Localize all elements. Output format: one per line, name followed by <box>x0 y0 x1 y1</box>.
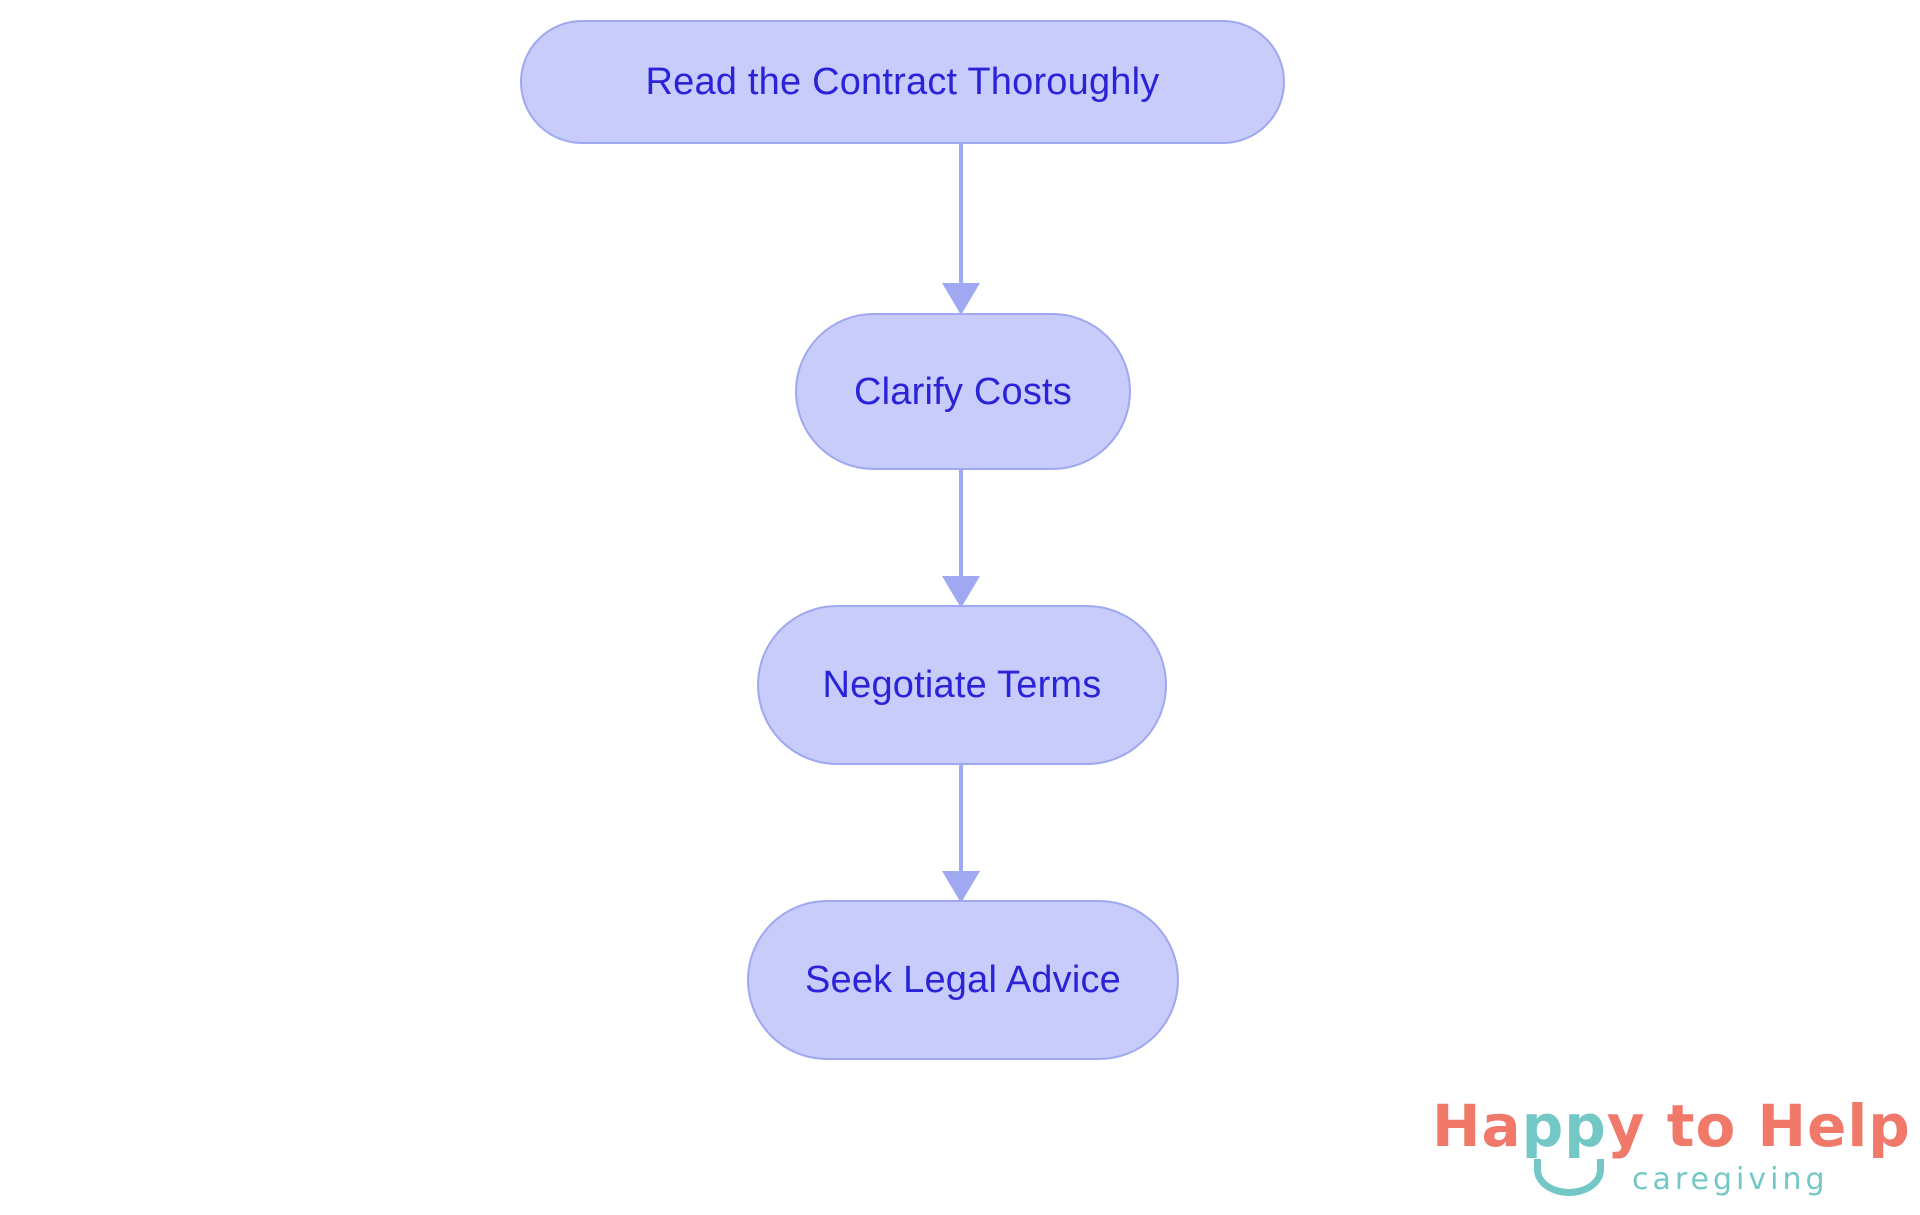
logo-word-part-3: y to Help <box>1607 1092 1911 1160</box>
flow-node-clarify-costs[interactable]: Clarify Costs <box>795 313 1131 470</box>
logo-word-part-2: pp <box>1522 1092 1607 1160</box>
flow-node-label: Read the Contract Thoroughly <box>646 63 1160 101</box>
brand-logo: Happy to Help caregiving <box>1432 1097 1902 1205</box>
edge-clarify-costs-to-negotiate-terms <box>942 470 980 608</box>
edge-negotiate-terms-to-seek-legal-advice <box>942 765 980 903</box>
flow-node-negotiate-terms[interactable]: Negotiate Terms <box>757 605 1167 765</box>
flow-node-label: Negotiate Terms <box>823 666 1102 704</box>
flow-node-label: Clarify Costs <box>854 373 1072 411</box>
flow-node-read-the-contract-thoroughly[interactable]: Read the Contract Thoroughly <box>520 20 1285 144</box>
flowchart-canvas: Read the Contract Thoroughly Clarify Cos… <box>0 0 1920 1215</box>
logo-tagline: caregiving <box>1632 1165 1829 1195</box>
flow-node-label: Seek Legal Advice <box>805 961 1121 999</box>
logo-word-part-1: Ha <box>1432 1092 1522 1160</box>
logo-wordmark: Happy to Help <box>1432 1097 1911 1155</box>
flow-node-seek-legal-advice[interactable]: Seek Legal Advice <box>747 900 1179 1060</box>
smile-icon <box>1534 1159 1604 1196</box>
edge-read-contract-to-clarify-costs <box>942 144 980 315</box>
